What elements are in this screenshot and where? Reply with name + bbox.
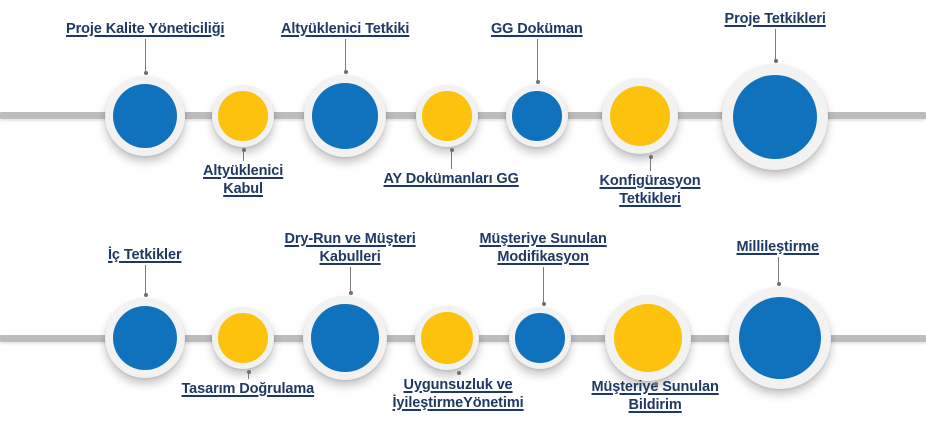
label-line: Müşteriye Sunulan (480, 230, 607, 248)
timeline-node-r2-n3[interactable] (303, 296, 387, 380)
leader-line-r1-n7 (775, 29, 776, 61)
leader-line-r2-n7 (778, 257, 779, 284)
label-line: Altyüklenici (203, 162, 283, 180)
leader-line-r1-n1 (145, 39, 146, 73)
leader-line-r1-n6 (650, 157, 651, 171)
leader-line-r2-n1 (145, 265, 146, 295)
timeline-node-r1-n5[interactable] (506, 85, 568, 147)
timeline-node-r2-n6[interactable] (605, 295, 691, 381)
node-disc-yellow (614, 304, 683, 373)
label-line: Bildirim (592, 396, 719, 414)
label-line: Kabul (203, 180, 283, 198)
label-line: Tetkikleri (600, 190, 701, 208)
leader-line-r1-n2 (243, 150, 244, 161)
label-line: Millileştirme (737, 238, 820, 256)
node-disc-yellow (610, 86, 671, 147)
timeline-node-r1-n2[interactable] (212, 85, 274, 147)
leader-line-r2-n4 (458, 373, 459, 375)
leader-line-r1-n4 (451, 150, 452, 169)
leader-line-r2-n5 (543, 267, 544, 304)
node-disc-blue (312, 83, 378, 149)
node-disc-blue (113, 84, 177, 148)
node-label-r2-n2: Tasarım Doğrulama (182, 380, 315, 398)
label-line: AY Dokümanları GG (384, 170, 519, 188)
node-label-r1-n2: AltyükleniciKabul (203, 162, 283, 198)
label-line: İyileştirmeYönetimi (393, 394, 524, 412)
leader-line-r1-n5 (537, 39, 538, 82)
label-line: Kabulleri (285, 248, 416, 266)
timeline-node-r2-n4[interactable] (415, 306, 479, 370)
node-disc-yellow (421, 312, 472, 363)
timeline-node-r2-n2[interactable] (212, 307, 274, 369)
timeline-node-r1-n7[interactable] (722, 64, 828, 170)
node-disc-blue (311, 304, 378, 371)
node-label-r2-n3: Dry-Run ve MüşteriKabulleri (285, 230, 416, 266)
node-disc-blue (512, 91, 562, 141)
timeline-node-r1-n4[interactable] (416, 85, 478, 147)
node-disc-blue (739, 297, 821, 379)
node-label-r1-n7: Proje Tetkikleri (725, 10, 826, 28)
node-disc-blue (113, 306, 177, 370)
label-line: Modifikasyon (480, 248, 607, 266)
node-label-r1-n1: Proje Kalite Yöneticiliği (66, 20, 224, 38)
timeline-node-r2-n7[interactable] (729, 287, 831, 389)
label-line: Müşteriye Sunulan (592, 378, 719, 396)
node-disc-yellow (218, 91, 268, 141)
node-label-r1-n6: KonfigürasyonTetkikleri (600, 172, 701, 208)
label-line: Tasarım Doğrulama (182, 380, 315, 398)
timeline-node-r1-n3[interactable] (304, 75, 386, 157)
node-label-r2-n4: Uygunsuzluk veİyileştirmeYönetimi (393, 376, 524, 412)
timeline-node-r2-n1[interactable] (105, 298, 185, 378)
node-label-r1-n5: GG Doküman (491, 20, 583, 38)
label-line: Proje Tetkikleri (725, 10, 826, 28)
node-disc-blue (515, 313, 565, 363)
label-line: Dry-Run ve Müşteri (285, 230, 416, 248)
label-line: Altyüklenici Tetkiki (281, 20, 409, 38)
label-line: İç Tetkikler (108, 246, 182, 264)
leader-line-r1-n3 (345, 39, 346, 72)
leader-line-r2-n3 (350, 267, 351, 293)
timeline-node-r1-n6[interactable] (602, 78, 678, 154)
node-disc-yellow (218, 313, 268, 363)
node-label-r2-n1: İç Tetkikler (108, 246, 182, 264)
label-line: Proje Kalite Yöneticiliği (66, 20, 224, 38)
node-label-r1-n4: AY Dokümanları GG (384, 170, 519, 188)
timeline-node-r1-n1[interactable] (105, 76, 185, 156)
leader-line-r2-n2 (248, 372, 249, 379)
process-timeline-diagram: Proje Kalite YöneticiliğiAltyükleniciKab… (0, 0, 926, 421)
timeline-node-r2-n5[interactable] (509, 307, 571, 369)
node-disc-blue (733, 75, 818, 160)
label-line: GG Doküman (491, 20, 583, 38)
label-line: Uygunsuzluk ve (393, 376, 524, 394)
label-line: Konfigürasyon (600, 172, 701, 190)
node-disc-yellow (422, 91, 472, 141)
node-label-r1-n3: Altyüklenici Tetkiki (281, 20, 409, 38)
node-label-r2-n7: Millileştirme (737, 238, 820, 256)
node-label-r2-n5: Müşteriye SunulanModifikasyon (480, 230, 607, 266)
